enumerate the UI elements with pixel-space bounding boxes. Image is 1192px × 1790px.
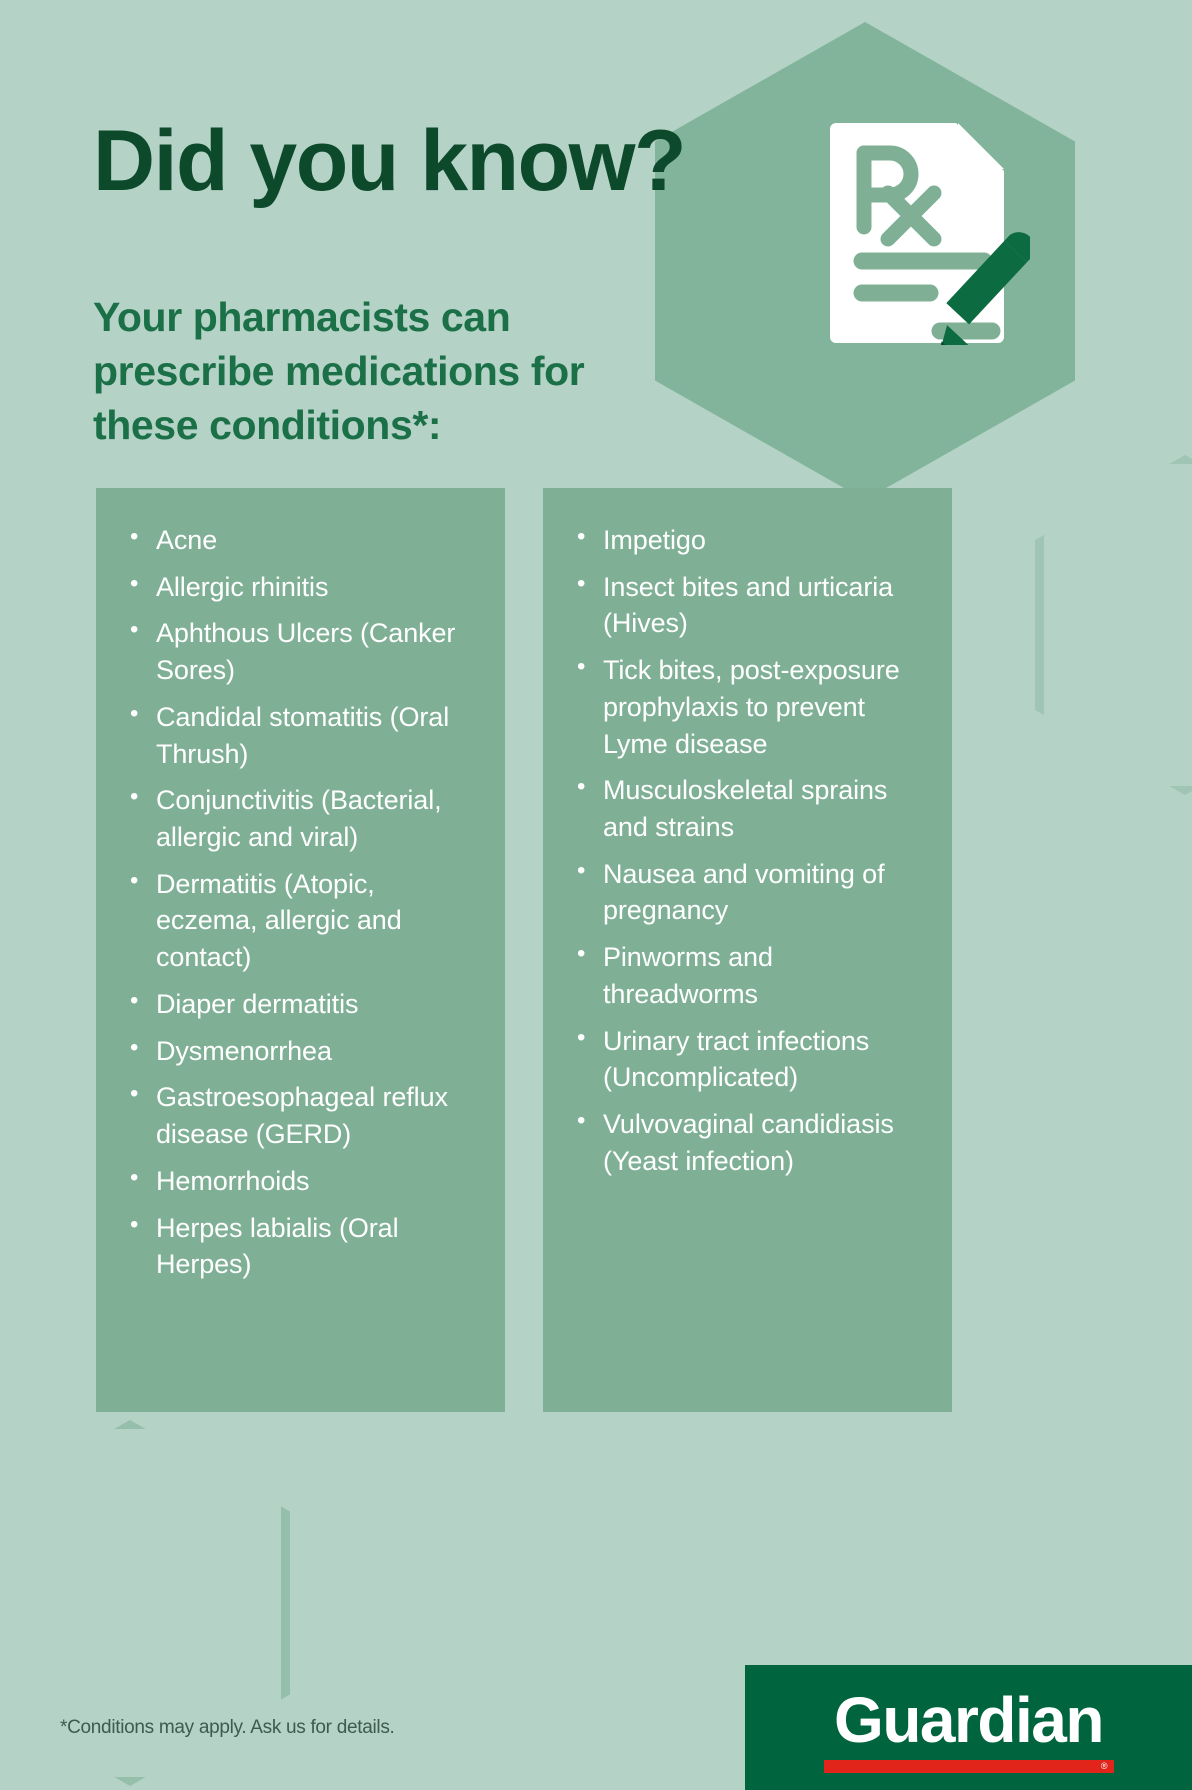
registered-trademark-icon: ® — [1101, 1761, 1108, 1772]
list-item: Allergic rhinitis — [130, 569, 481, 606]
list-item: Dysmenorrhea — [130, 1033, 481, 1070]
prescription-document-pen-icon — [830, 115, 1030, 345]
footnote-disclaimer: *Conditions may apply. Ask us for detail… — [60, 1717, 395, 1739]
list-item: Diaper dermatitis — [130, 986, 481, 1023]
list-item: Aphthous Ulcers (Canker Sores) — [130, 615, 481, 688]
list-item: Candidal stomatitis (Oral Thrush) — [130, 699, 481, 772]
list-item: Vulvovaginal candidiasis (Yeast infectio… — [577, 1106, 928, 1179]
poster-canvas: Did you know? Your pharmacists can presc… — [0, 0, 1192, 1790]
conditions-list-left: Acne Allergic rhinitis Aphthous Ulcers (… — [96, 488, 505, 1283]
list-item: Conjunctivitis (Bacterial, allergic and … — [130, 782, 481, 855]
page-title: Did you know? — [93, 118, 685, 204]
list-item: Tick bites, post-exposure prophylaxis to… — [577, 652, 928, 762]
list-item: Urinary tract infections (Uncomplicated) — [577, 1023, 928, 1096]
list-item: Hemorrhoids — [130, 1163, 481, 1200]
guardian-wordmark: Guardian — [834, 1688, 1103, 1752]
conditions-list-right: Impetigo Insect bites and urticaria (Hiv… — [543, 488, 952, 1180]
hexagon-outline-right-icon — [1035, 455, 1192, 795]
list-item: Impetigo — [577, 522, 928, 559]
conditions-panel-left: Acne Allergic rhinitis Aphthous Ulcers (… — [96, 488, 505, 1412]
list-item: Insect bites and urticaria (Hives) — [577, 569, 928, 642]
list-item: Herpes labialis (Oral Herpes) — [130, 1210, 481, 1283]
list-item: Gastroesophageal reflux disease (GERD) — [130, 1079, 481, 1152]
guardian-logo: Guardian ® — [745, 1665, 1192, 1790]
list-item: Musculoskeletal sprains and strains — [577, 772, 928, 845]
list-item: Pinworms and threadworms — [577, 939, 928, 1012]
list-item: Nausea and vomiting of pregnancy — [577, 856, 928, 929]
list-item: Acne — [130, 522, 481, 559]
guardian-red-rule: ® — [824, 1760, 1114, 1773]
page-subtitle: Your pharmacists can prescribe medicatio… — [93, 290, 633, 452]
conditions-panel-right: Impetigo Insect bites and urticaria (Hiv… — [543, 488, 952, 1412]
list-item: Dermatitis (Atopic, eczema, allergic and… — [130, 866, 481, 976]
